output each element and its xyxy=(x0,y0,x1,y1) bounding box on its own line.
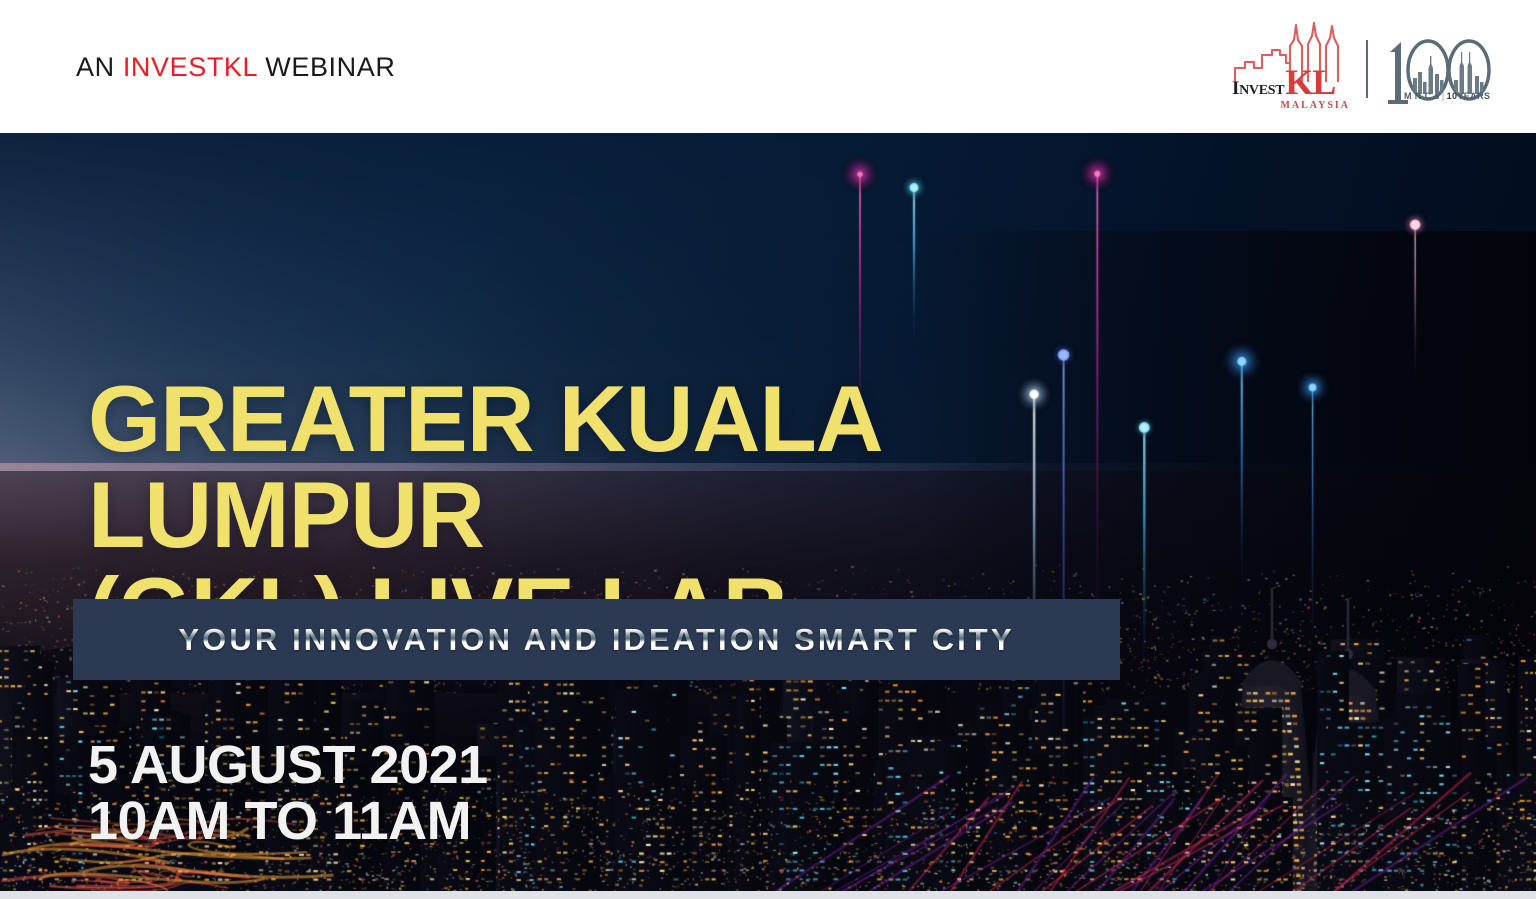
eyebrow-prefix: AN xyxy=(76,52,123,82)
investkl-wordmark: INVEST KL xyxy=(1232,68,1354,98)
badge-years: YEARS xyxy=(1457,91,1490,101)
bottom-strip xyxy=(0,891,1536,899)
hundred-mnc-badge: M N C s|10YEARS xyxy=(1384,30,1492,114)
malaysia-text: MALAYSIA xyxy=(1280,101,1350,111)
kl-text: KL xyxy=(1285,68,1335,97)
eyebrow-text: AN INVESTKL WEBINAR xyxy=(76,52,395,83)
badge-mnc-label: M N C s xyxy=(1404,91,1440,101)
badge-sep: | xyxy=(1442,91,1445,101)
eyebrow-brand: INVESTKL xyxy=(123,52,257,82)
investkl-logo: INVEST KL MALAYSIA xyxy=(1232,22,1354,114)
hero-banner: GREATER KUALA LUMPUR (GKL) LIVE LAB YOUR… xyxy=(0,133,1536,891)
hundred-badge-icon xyxy=(1384,30,1492,114)
subtitle-banner: YOUR INNOVATION AND IDEATION SMART CITY xyxy=(73,599,1120,680)
logo-lockup: INVEST KL MALAYSIA xyxy=(1232,22,1492,114)
badge-caption: M N C s|10YEARS xyxy=(1404,91,1490,101)
event-datetime: 5 AUGUST 2021 10AM TO 11AM xyxy=(88,737,488,849)
slide-header: AN INVESTKL WEBINAR INVEST KL MALAYSIA xyxy=(0,0,1536,133)
subtitle-text: YOUR INNOVATION AND IDEATION SMART CITY xyxy=(178,622,1014,658)
logo-divider xyxy=(1366,40,1368,98)
badge-ten: 10 xyxy=(1447,91,1458,101)
webinar-promo-slide: AN INVESTKL WEBINAR INVEST KL MALAYSIA xyxy=(0,0,1536,899)
invest-text: INVEST xyxy=(1232,79,1284,98)
eyebrow-suffix: WEBINAR xyxy=(257,52,395,82)
